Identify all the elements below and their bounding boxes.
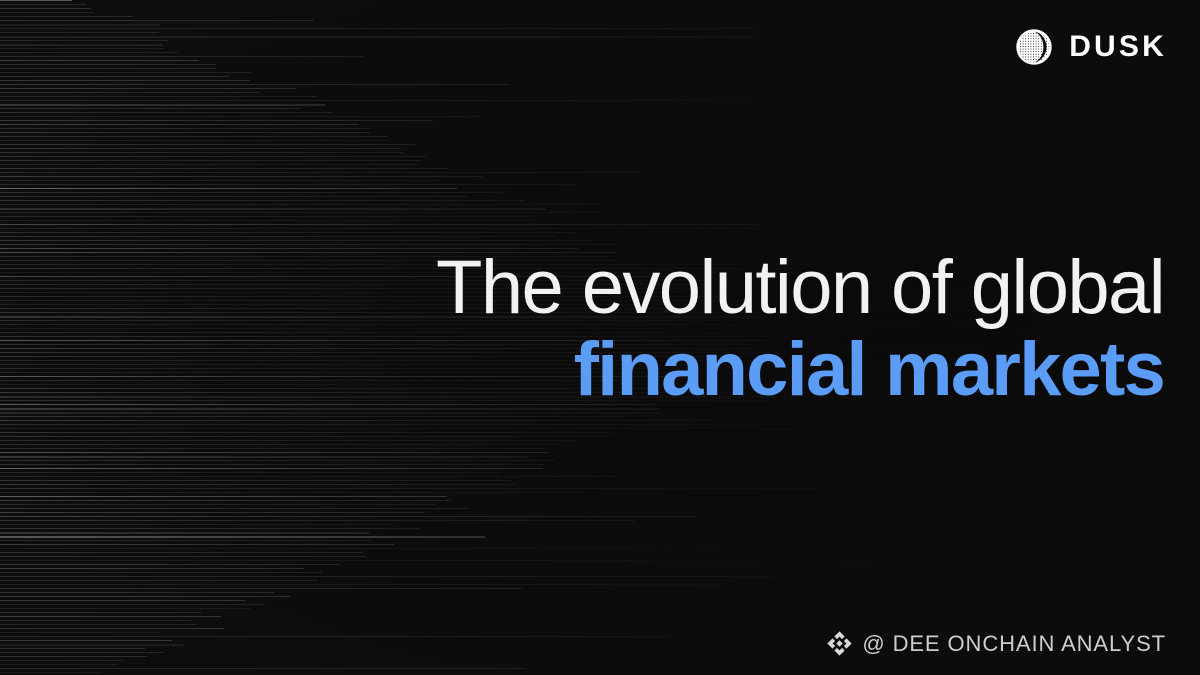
brand-logo: DUSK — [1014, 27, 1167, 67]
footer-handle-text: @ DEE ONCHAIN ANALYST — [862, 633, 1166, 655]
brand-wordmark: DUSK — [1069, 32, 1167, 62]
headline: The evolution of global financial market… — [0, 248, 1164, 412]
binance-diamond-icon — [826, 630, 853, 657]
slide-canvas: DUSK The evolution of global financial m… — [0, 0, 1200, 675]
footer-handle: @ DEE ONCHAIN ANALYST — [826, 630, 1166, 657]
dusk-crescent-moon-icon — [1014, 27, 1054, 67]
headline-line-1: The evolution of global — [0, 248, 1164, 327]
headline-line-2: financial markets — [0, 327, 1164, 412]
